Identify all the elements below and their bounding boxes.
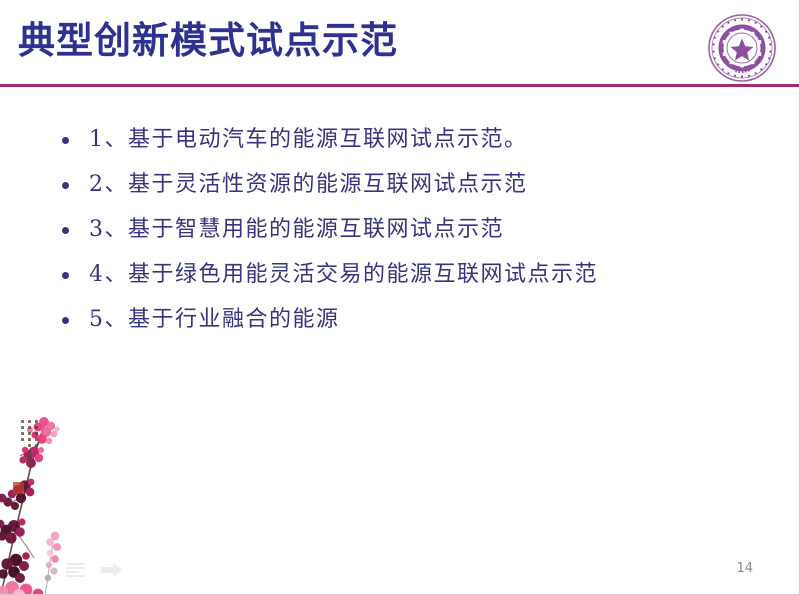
calligraphy-glyph: [28, 456, 31, 459]
bullet-dot-icon: [62, 272, 69, 279]
university-seal-logo: [707, 13, 777, 83]
bullet-dot-icon: [62, 317, 69, 324]
calligraphy-glyph: [28, 444, 31, 447]
arrow-right-icon[interactable]: [101, 562, 123, 578]
calligraphy-glyph: [35, 444, 38, 447]
calligraphy-glyph: [35, 438, 38, 441]
title-divider: [0, 84, 800, 87]
calligraphy-glyph: [28, 426, 31, 429]
list-item: 5、基于行业融合的能源: [62, 302, 762, 347]
list-item-label: 1、基于电动汽车的能源互联网试点示范。: [89, 122, 528, 158]
calligraphy-column: [21, 420, 24, 478]
calligraphy-glyph: [28, 450, 31, 453]
calligraphy-column: [35, 420, 38, 478]
list-item-label: 3、基于智慧用能的能源互联网试点示范: [89, 212, 504, 248]
vertical-calligraphy-text: [12, 420, 38, 478]
calligraphy-glyph: [35, 420, 38, 423]
bullet-dot-icon: [62, 182, 69, 189]
calligraphy-glyph: [28, 420, 31, 423]
list-item-label: 4、基于绿色用能灵活交易的能源互联网试点示范: [89, 257, 598, 293]
calligraphy-glyph: [35, 432, 38, 435]
list-lines-icon[interactable]: [66, 563, 85, 578]
calligraphy-glyph: [28, 432, 31, 435]
calligraphy-column: [28, 420, 31, 478]
page-title: 典型创新模式试点示范: [18, 16, 398, 66]
calligraphy-glyph: [21, 420, 24, 423]
presentation-slide: 典型创新模式试点示范: [0, 0, 800, 595]
list-item: 2、基于灵活性资源的能源互联网试点示范: [62, 167, 762, 212]
bullet-dot-icon: [62, 137, 69, 144]
list-item-label: 5、基于行业融合的能源: [89, 302, 340, 338]
calligraphy-glyph: [35, 426, 38, 429]
list-item: 1、基于电动汽车的能源互联网试点示范。: [62, 122, 762, 167]
bullet-dot-icon: [62, 227, 69, 234]
calligraphy-glyph: [21, 432, 24, 435]
page-number: 14: [736, 561, 753, 576]
nav-icon-group: [66, 562, 123, 578]
bullet-list: 1、基于电动汽车的能源互联网试点示范。 2、基于灵活性资源的能源互联网试点示范 …: [62, 122, 762, 347]
list-item-label: 2、基于灵活性资源的能源互联网试点示范: [89, 167, 528, 203]
list-item: 3、基于智慧用能的能源互联网试点示范: [62, 212, 762, 257]
list-item: 4、基于绿色用能灵活交易的能源互联网试点示范: [62, 257, 762, 302]
calligraphy-glyph: [21, 438, 24, 441]
red-seal-stamp-icon: [13, 482, 24, 494]
calligraphy-glyph: [21, 426, 24, 429]
calligraphy-glyph: [28, 438, 31, 441]
